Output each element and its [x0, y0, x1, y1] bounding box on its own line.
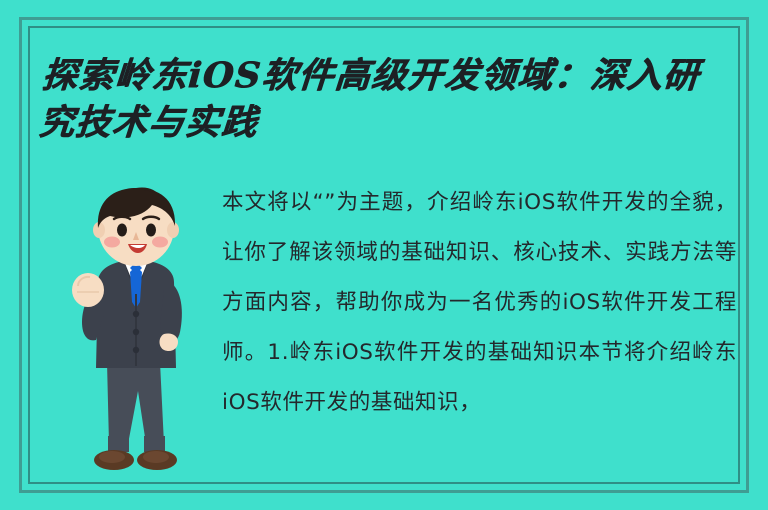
businessman-illustration — [52, 186, 217, 486]
businessman-icon — [52, 186, 217, 486]
page-title: 探索岭东iOS软件高级开发领域：深入研 究技术与实践 — [37, 52, 768, 146]
poster-canvas: 探索岭东iOS软件高级开发领域：深入研 究技术与实践 — [0, 0, 768, 510]
body-paragraph: 本文将以“”为主题，介绍岭东iOS软件开发的全貌，让你了解该领域的基础知识、核心… — [222, 178, 737, 488]
